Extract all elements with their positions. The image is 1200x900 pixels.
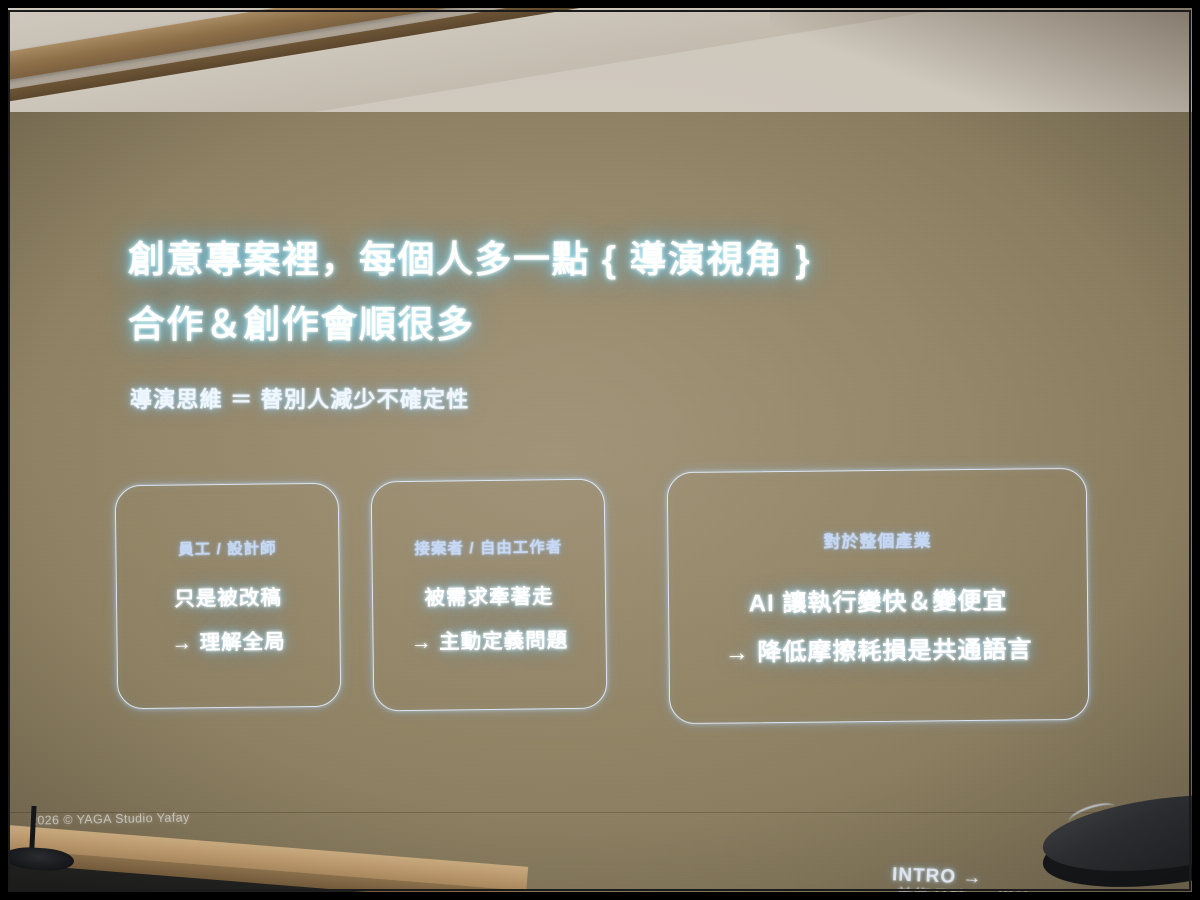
card-label: 接案者 / 自由工作者	[414, 535, 562, 559]
card-label: 對於整個產業	[823, 526, 931, 552]
card-solution: → 降低摩擦耗損是共通語言	[725, 629, 1033, 667]
lower-screen-breadcrumb-rest: 美術品味 → 導演思維 → 對外...	[896, 881, 1153, 900]
card-solution: → 理解全局	[171, 624, 286, 655]
room-photo: 創意專案裡，每個人多一點 { 導演視角 } 合作＆創作會順很多 導演思維 ＝ 替…	[0, 0, 1200, 900]
card-freelancer: 接案者 / 自由工作者 被需求牽著走 → 主動定義問題	[371, 479, 608, 712]
card-industry: 對於整個產業 AI 讓執行變快＆變便宜 → 降低摩擦耗損是共通語言	[667, 468, 1090, 724]
card-problem: 被需求牽著走	[424, 579, 553, 611]
lower-screen: INTRO → 美術品味 → 導演思維 → 對外...	[880, 862, 1200, 900]
card-solution: → 主動定義問題	[411, 623, 569, 655]
projected-slide: 創意專案裡，每個人多一點 { 導演視角 } 合作＆創作會順很多 導演思維 ＝ 替…	[0, 112, 1200, 900]
card-label: 員工 / 設計師	[178, 536, 277, 559]
cards-row: 員工 / 設計師 只是被改稿 → 理解全局 接案者 / 自由工作者 被需求牽著走…	[0, 112, 1200, 900]
card-problem: 只是被改稿	[174, 580, 282, 611]
card-problem: AI 讓執行變快＆變便宜	[749, 580, 1008, 618]
card-employee-designer: 員工 / 設計師 只是被改稿 → 理解全局	[115, 483, 342, 710]
